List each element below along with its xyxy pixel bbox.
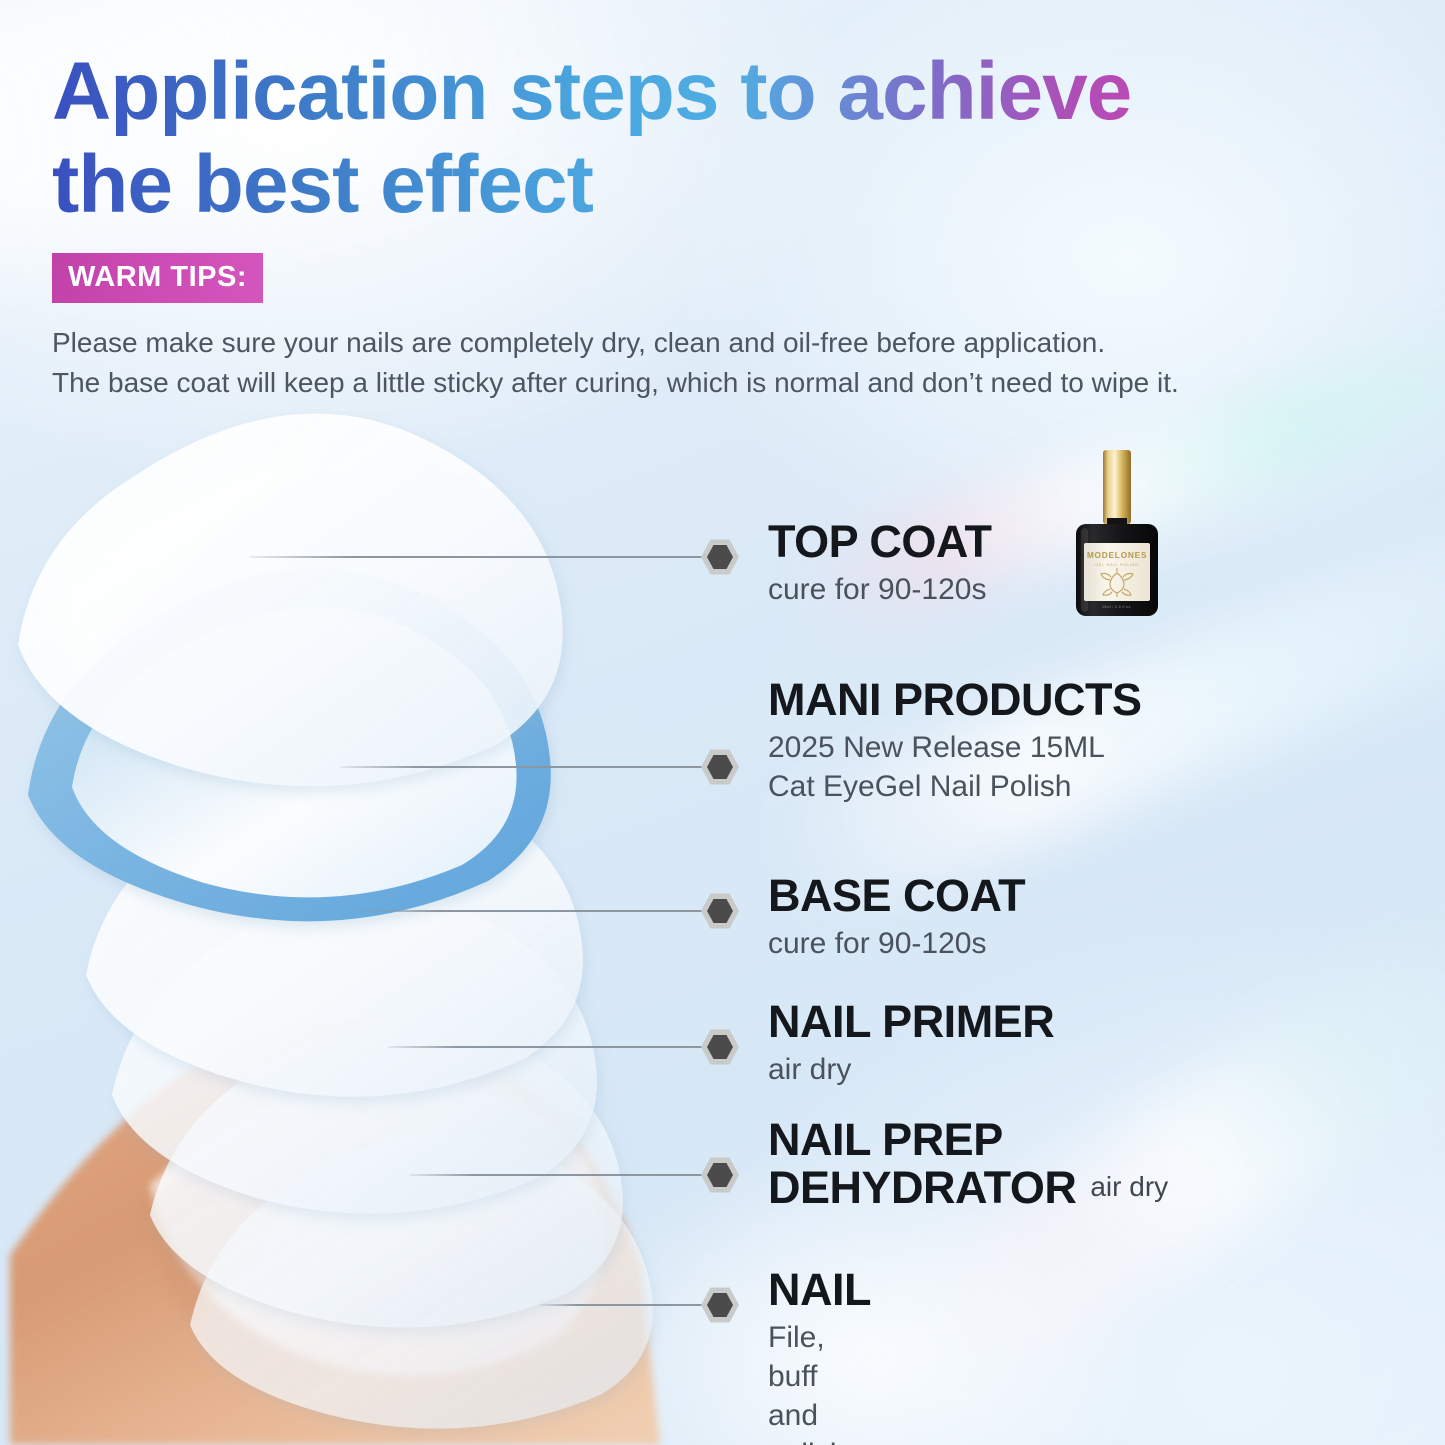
- warm-tips-badge: WARM TIPS:: [52, 253, 263, 303]
- svg-text:MODELONES: MODELONES: [1087, 550, 1147, 560]
- svg-text:15ml / 0.5 fl.oz.: 15ml / 0.5 fl.oz.: [1102, 605, 1132, 609]
- product-bottle: MODELONES GEL NAIL POLISH 15ml / 0.5 fl.…: [1063, 448, 1173, 623]
- nail-layers-illustration: [0, 395, 700, 1445]
- page-title: Application steps to achieve the best ef…: [52, 46, 1412, 231]
- warm-tips-body: Please make sure your nails are complete…: [52, 323, 1412, 403]
- svg-text:GEL NAIL POLISH: GEL NAIL POLISH: [1095, 563, 1139, 567]
- bottle-cap: [1103, 450, 1131, 524]
- header: Application steps to achieve the best ef…: [52, 46, 1412, 403]
